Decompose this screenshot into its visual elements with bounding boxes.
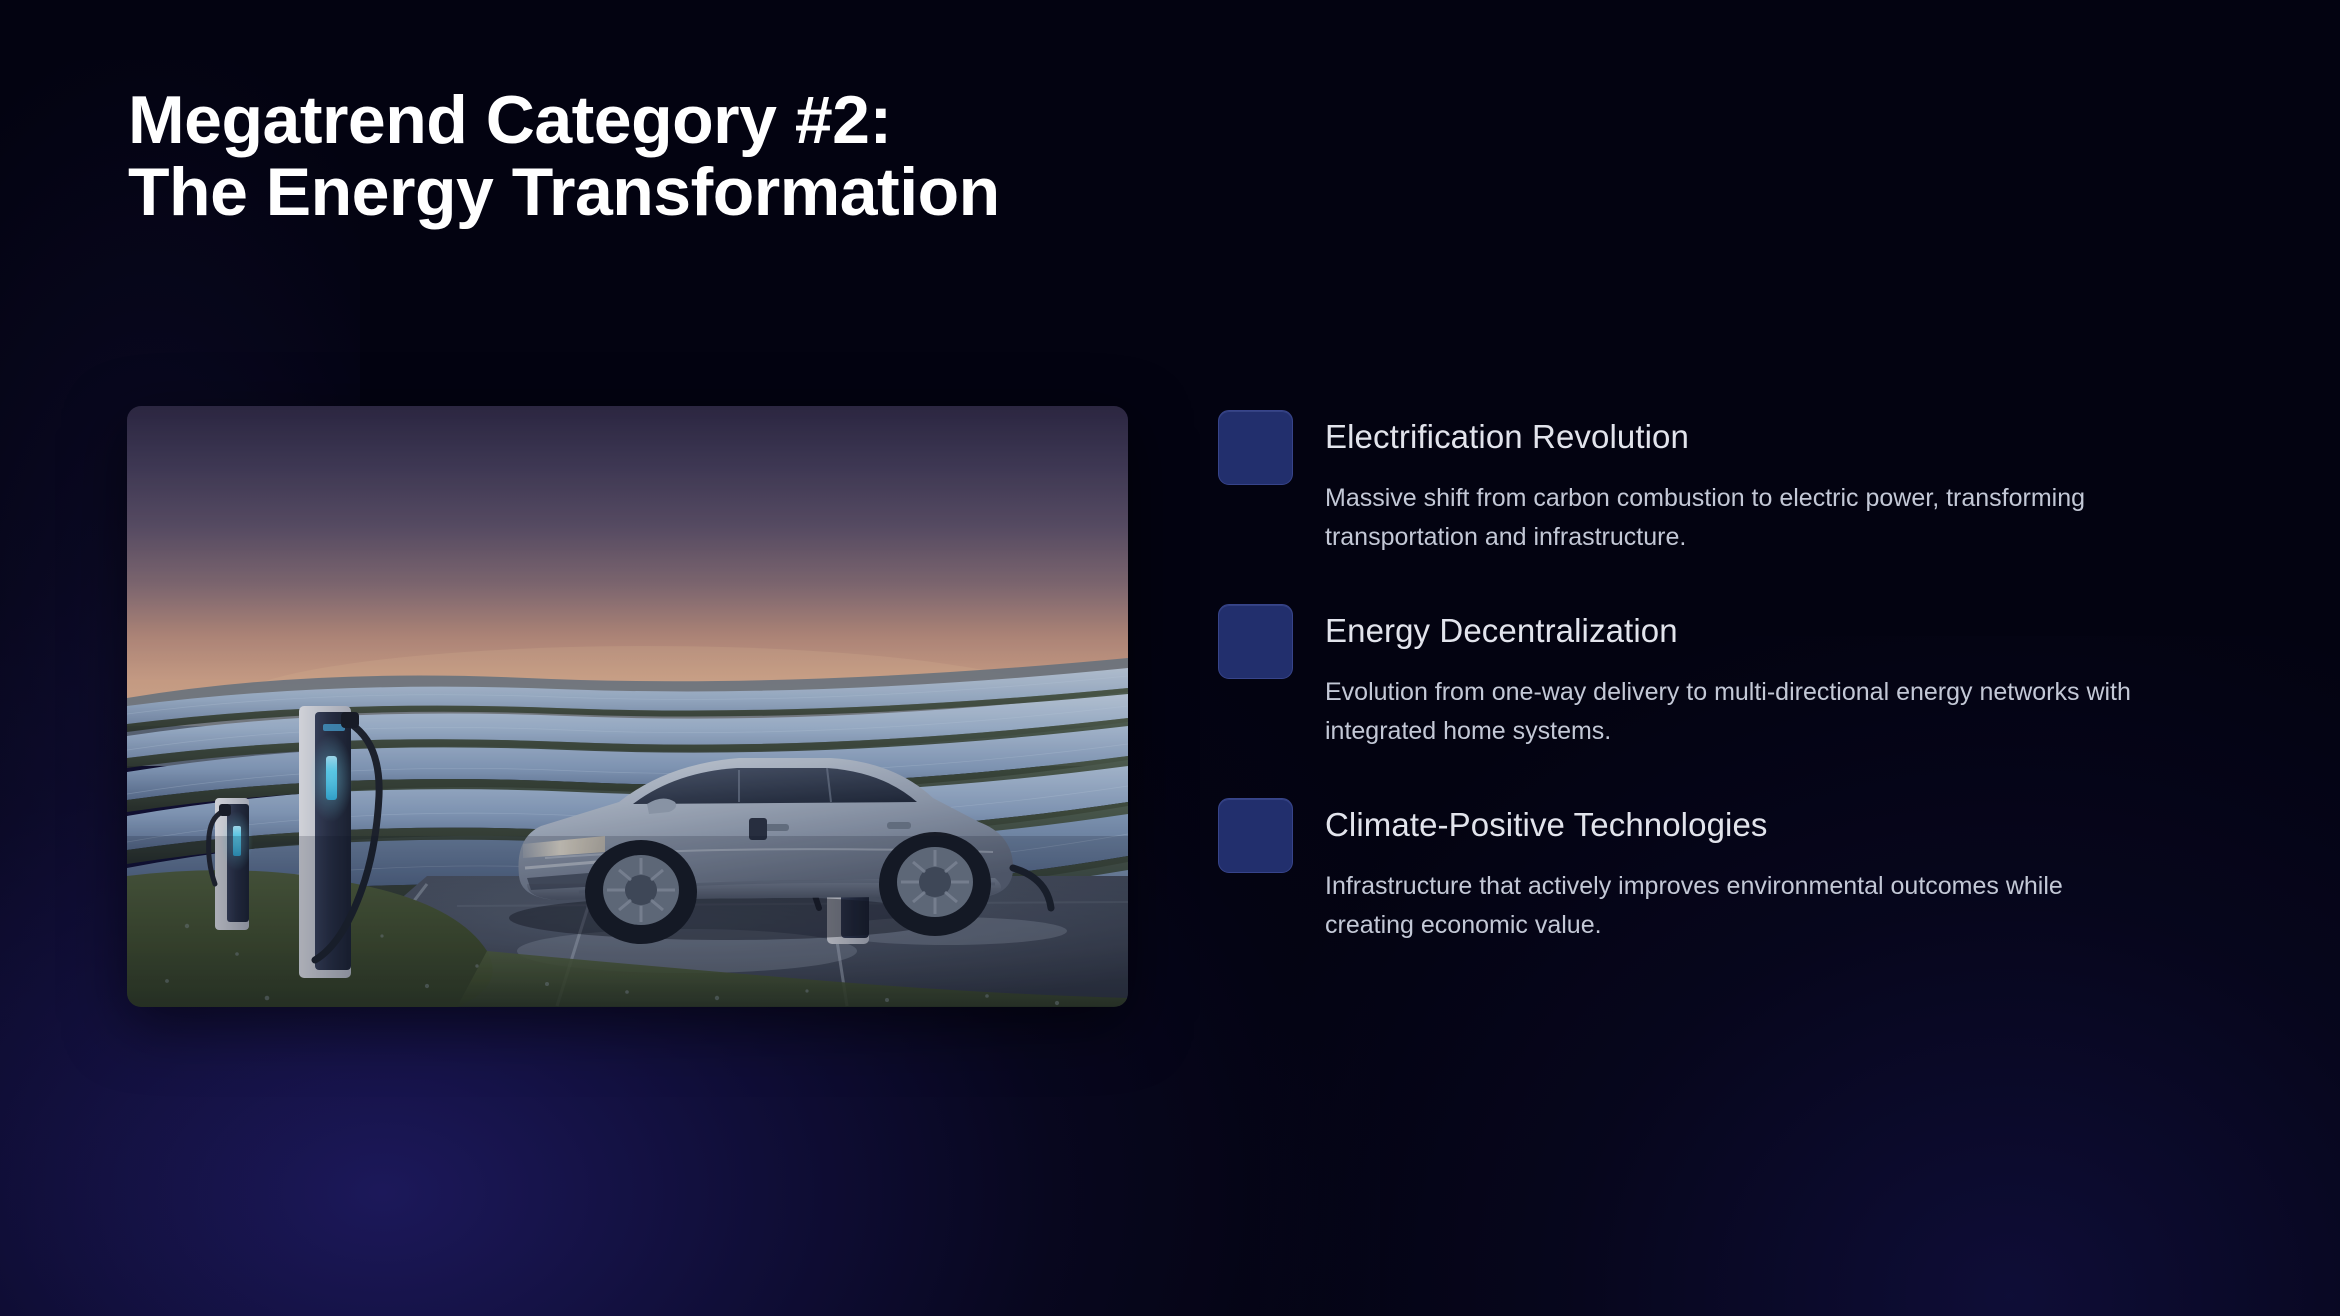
ev-charging-solar-illustration: [127, 406, 1128, 1007]
list-item-description: Massive shift from carbon combustion to …: [1325, 479, 2155, 557]
list-item-title: Energy Decentralization: [1325, 600, 2228, 651]
list-item-description: Infrastructure that actively improves en…: [1325, 867, 2155, 945]
list-item: Electrification Revolution Massive shift…: [1218, 406, 2228, 557]
list-item: Climate-Positive Technologies Infrastruc…: [1218, 794, 2228, 945]
illustration-svg: [127, 406, 1128, 1007]
list-item-content: Energy Decentralization Evolution from o…: [1325, 600, 2228, 751]
list-item: Energy Decentralization Evolution from o…: [1218, 600, 2228, 751]
slide-title: Megatrend Category #2: The Energy Transf…: [128, 84, 1428, 228]
square-badge-icon: [1218, 798, 1293, 873]
megatrend-list: Electrification Revolution Massive shift…: [1218, 406, 2228, 945]
list-item-description: Evolution from one-way delivery to multi…: [1325, 673, 2155, 751]
list-item-content: Climate-Positive Technologies Infrastruc…: [1325, 794, 2228, 945]
slide-root: Megatrend Category #2: The Energy Transf…: [0, 0, 2340, 1316]
list-item-content: Electrification Revolution Massive shift…: [1325, 406, 2228, 557]
square-badge-icon: [1218, 410, 1293, 485]
square-badge-icon: [1218, 604, 1293, 679]
list-item-title: Climate-Positive Technologies: [1325, 794, 2228, 845]
list-item-title: Electrification Revolution: [1325, 406, 2228, 457]
